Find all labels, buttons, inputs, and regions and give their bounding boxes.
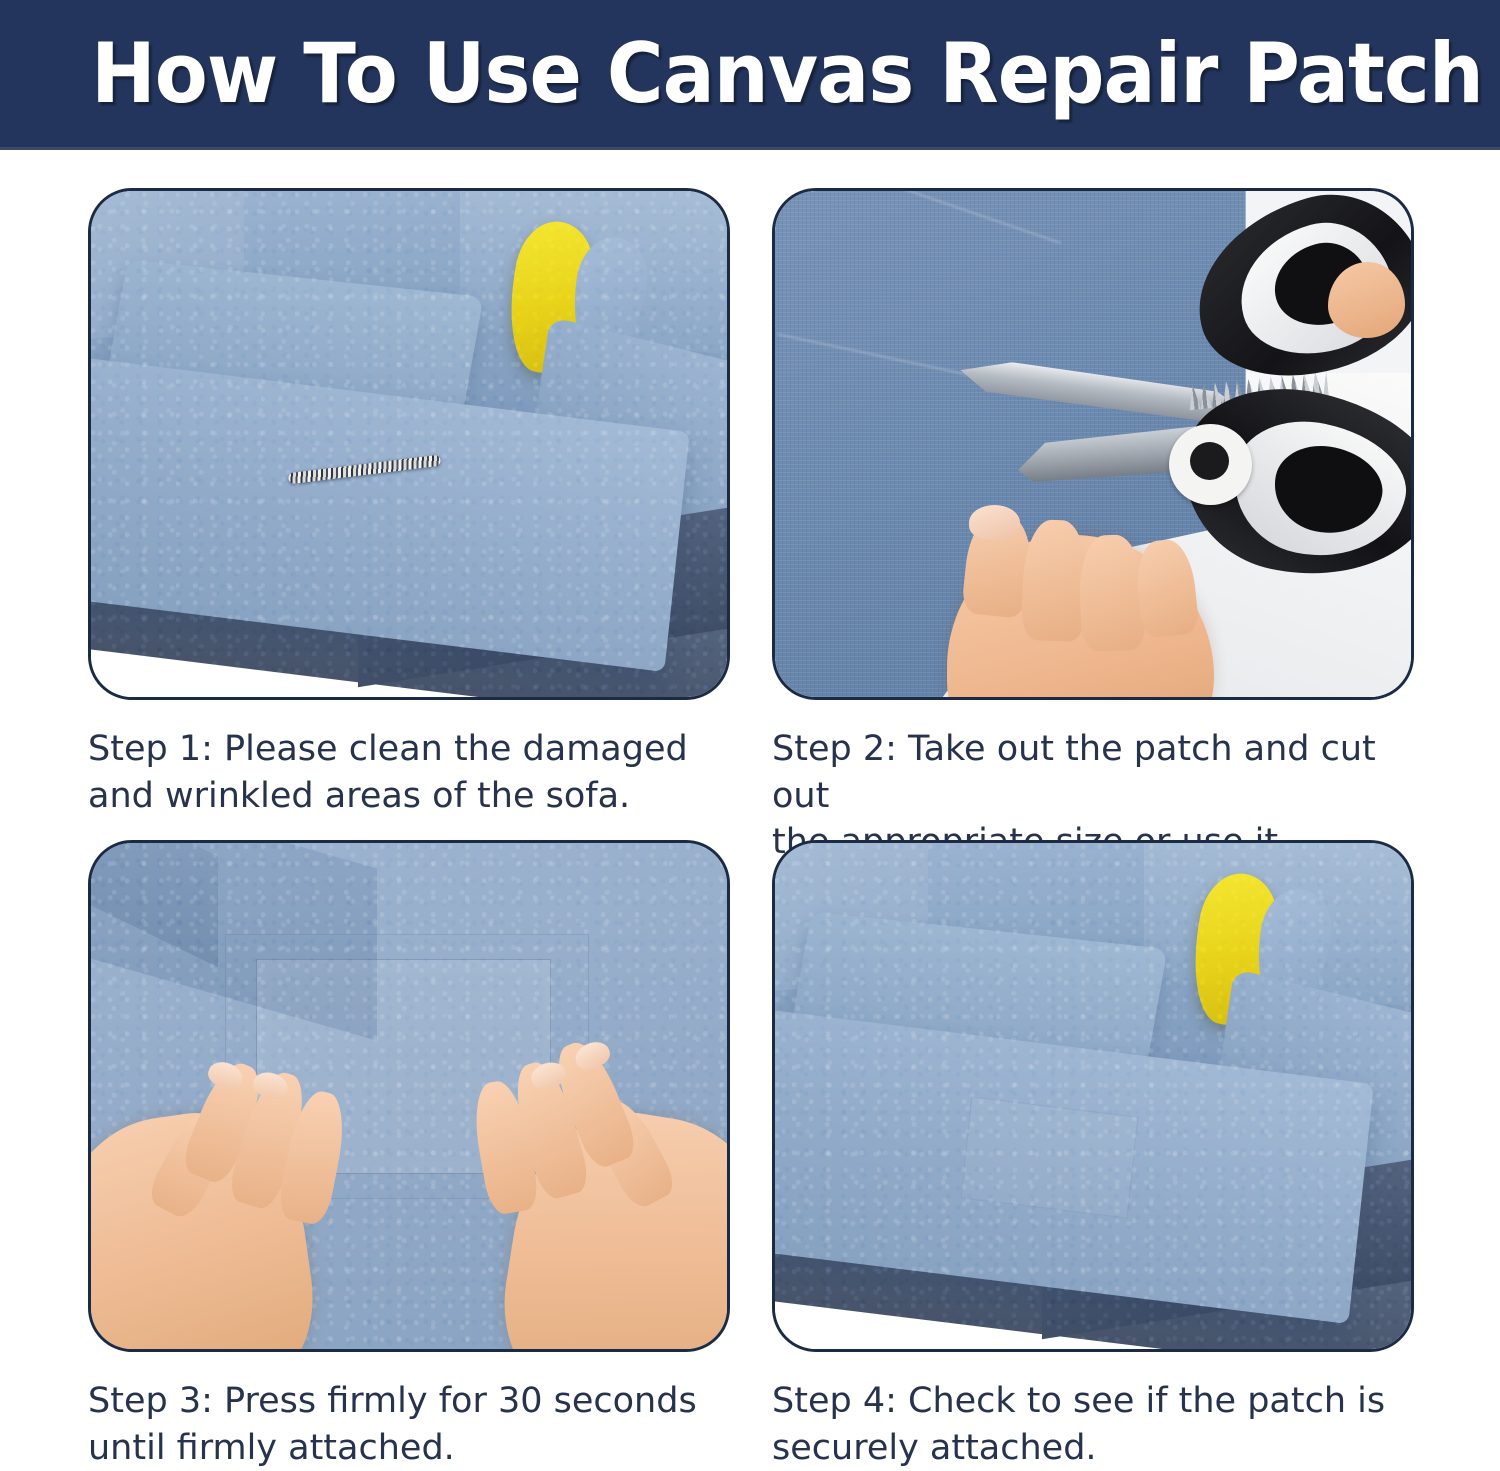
step-card-1: Step 1: Please clean the damaged and wri… [88,188,748,819]
header-banner: How To Use Canvas Repair Patch [0,0,1500,150]
pressing-patch-image [91,843,727,1349]
steps-grid: Step 1: Please clean the damaged and wri… [0,150,1500,1460]
step-4-photo-frame [772,840,1414,1352]
step-4-caption: Step 4: Check to see if the patch is sec… [772,1378,1422,1471]
step-card-2: Step 2: Take out the patch and cut out t… [772,188,1432,912]
fingernail [969,505,1020,540]
step-1-caption: Step 1: Please clean the damaged and wri… [88,726,738,819]
cutting-patch-image [775,191,1411,697]
hand-finger [1021,519,1089,643]
step-3-caption: Step 3: Press firmly for 30 seconds unti… [88,1378,738,1471]
page-title: How To Use Canvas Repair Patch [0,32,1483,115]
step-3-photo-frame [88,840,730,1352]
step-card-3: Step 3: Press firmly for 30 seconds unti… [88,840,748,1471]
sofa-repaired-image [775,843,1411,1349]
repaired-patch-outline [960,1097,1138,1219]
step-1-photo-frame [88,188,730,700]
step-2-photo-frame [772,188,1414,700]
sofa-damaged-image [91,191,727,697]
thumb-on-scissors [1328,262,1404,338]
canvas-crease-upper [845,191,1061,244]
step-card-4: Step 4: Check to see if the patch is sec… [772,840,1432,1471]
